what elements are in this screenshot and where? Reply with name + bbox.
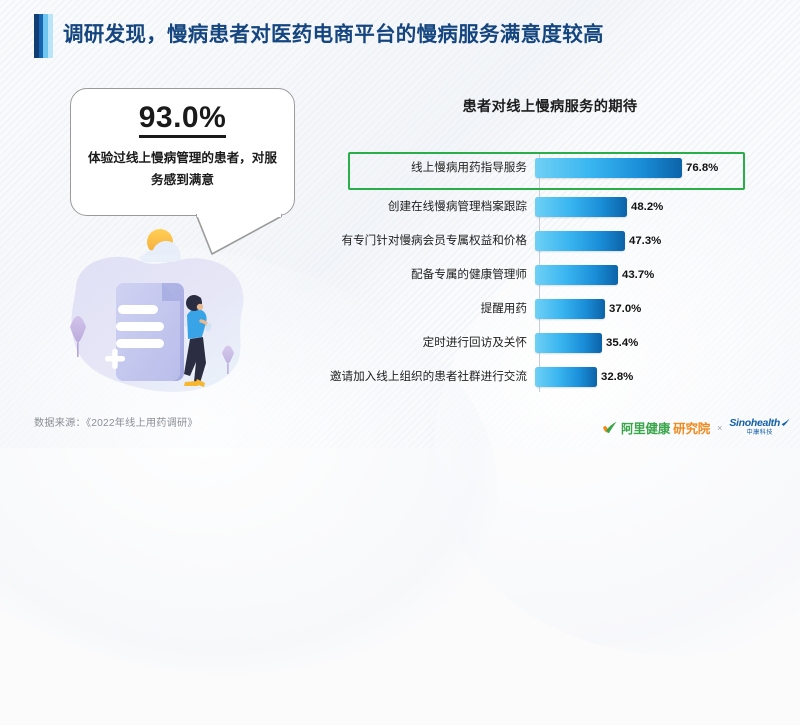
online-chronic-disease-management-illustration <box>58 215 298 415</box>
bar-track: 32.8% <box>533 365 770 389</box>
bar-track: 43.7% <box>533 263 770 287</box>
bar-fill <box>535 367 597 387</box>
callout-speech-bubble: 93.0% 体验过线上慢病管理的患者，对服务感到满意 <box>70 88 295 216</box>
logo-separator: × <box>717 423 722 433</box>
bar-value: 35.4% <box>606 337 638 349</box>
footer-logos: 阿里健康研究院 × Sinohealth 中康科技 <box>602 418 790 437</box>
table-row[interactable]: 创建在线慢病管理档案跟踪 48.2% <box>300 195 770 219</box>
bar-value: 32.8% <box>601 371 633 383</box>
bar-track: 48.2% <box>533 195 770 219</box>
sinohealth-logo: Sinohealth 中康科技 <box>729 418 790 436</box>
bar-fill <box>535 265 618 285</box>
sinohealth-en-label: Sinohealth <box>729 418 780 429</box>
bar-label: 定时进行回访及关怀 <box>300 337 533 349</box>
accent-stripe-4 <box>48 14 53 58</box>
checkmark-icon <box>602 421 618 434</box>
table-row[interactable]: 配备专属的健康管理师 43.7% <box>300 263 770 287</box>
slide-header: 调研发现，慢病患者对医药电商平台的慢病服务满意度较高 <box>0 0 800 72</box>
bar-label: 配备专属的健康管理师 <box>300 269 533 281</box>
callout-stat: 93.0% <box>70 101 295 135</box>
bar-label: 创建在线慢病管理档案跟踪 <box>300 201 533 213</box>
chart-title: 患者对线上慢病服务的期待 <box>380 96 720 116</box>
research-institute-label: 研究院 <box>673 418 710 437</box>
cloud-icon <box>140 241 181 262</box>
alibaba-health-logo: 阿里健康研究院 <box>602 418 710 437</box>
table-row[interactable]: 定时进行回访及关怀 35.4% <box>300 331 770 355</box>
bar-track: 76.8% <box>533 156 770 180</box>
table-row[interactable]: 线上慢病用药指导服务 76.8% <box>300 156 770 180</box>
bar-value: 48.2% <box>631 201 663 213</box>
callout-stat-value: 93.0% <box>139 101 227 138</box>
bar-label: 线上慢病用药指导服务 <box>300 162 533 174</box>
bar-value: 47.3% <box>629 235 661 247</box>
bar-value: 76.8% <box>686 162 718 174</box>
bar-fill <box>535 333 602 353</box>
title-accent-bar <box>34 14 53 58</box>
sinohealth-cn-label: 中康科技 <box>746 430 772 436</box>
bar-label: 提醒用药 <box>300 303 533 315</box>
source-note: 数据来源：《2022年线上用药调研》 <box>34 414 198 429</box>
bar-label: 邀请加入线上组织的患者社群进行交流 <box>300 371 533 383</box>
callout-description: 体验过线上慢病管理的患者，对服务感到满意 <box>84 148 281 191</box>
bar-label: 有专门针对慢病会员专属权益和价格 <box>300 235 533 247</box>
alibaba-health-label: 阿里健康 <box>621 418 670 437</box>
bar-value: 37.0% <box>609 303 641 315</box>
bar-fill <box>535 158 682 178</box>
swoosh-icon <box>781 418 790 427</box>
bar-track: 37.0% <box>533 297 770 321</box>
document-card-front <box>116 283 180 381</box>
bar-fill <box>535 231 625 251</box>
page-title: 调研发现，慢病患者对医药电商平台的慢病服务满意度较高 <box>63 17 604 47</box>
bar-value: 43.7% <box>622 269 654 281</box>
table-row[interactable]: 邀请加入线上组织的患者社群进行交流 32.8% <box>300 365 770 389</box>
bar-fill <box>535 197 627 217</box>
bar-track: 47.3% <box>533 229 770 253</box>
table-row[interactable]: 有专门针对慢病会员专属权益和价格 47.3% <box>300 229 770 253</box>
expectations-bar-chart: 线上慢病用药指导服务 76.8% 创建在线慢病管理档案跟踪 48.2% 有专门针… <box>300 148 770 396</box>
table-row[interactable]: 提醒用药 37.0% <box>300 297 770 321</box>
bar-fill <box>535 299 605 319</box>
bar-track: 35.4% <box>533 331 770 355</box>
